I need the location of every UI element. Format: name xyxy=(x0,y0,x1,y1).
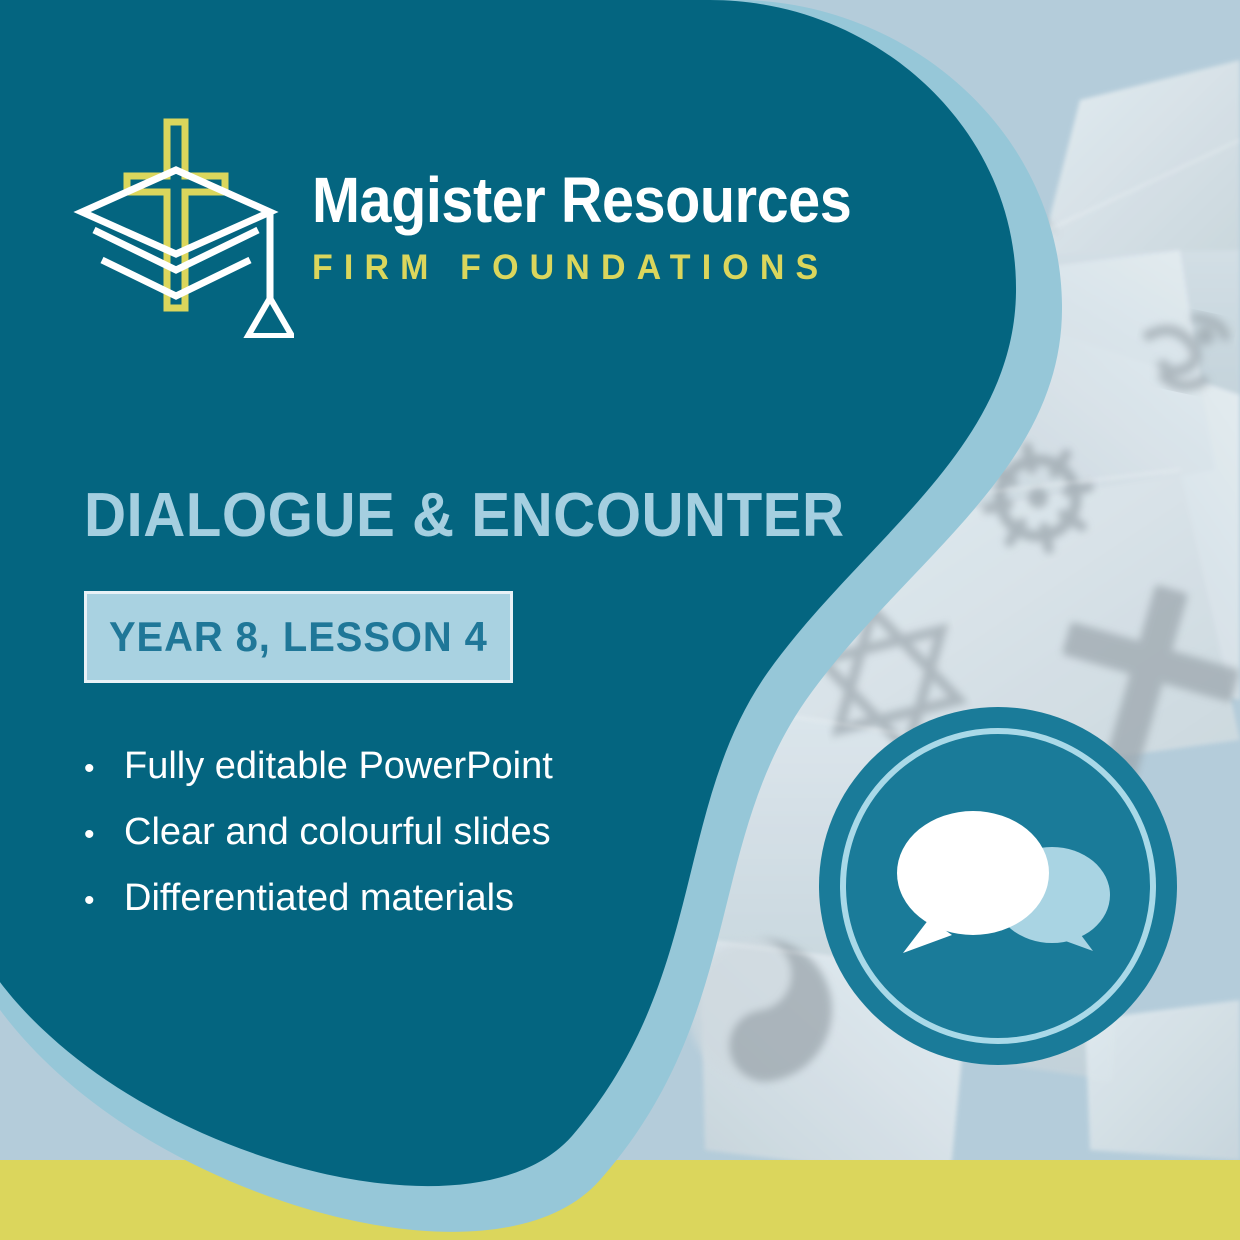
graduation-cap-with-cross-icon xyxy=(72,112,294,338)
bullet-icon: • xyxy=(84,873,124,929)
brand-lockup: Magister Resources FIRM FOUNDATIONS xyxy=(72,112,911,338)
status-badge: YEAR 8, LESSON 4 xyxy=(84,591,513,683)
brand-tagline: FIRM FOUNDATIONS xyxy=(312,248,893,288)
page-title: DIALOGUE & ENCOUNTER xyxy=(84,480,845,551)
badge-label: YEAR 8, LESSON 4 xyxy=(109,613,488,661)
list-item-label: Fully editable PowerPoint xyxy=(124,738,553,794)
list-item: • Fully editable PowerPoint xyxy=(84,738,553,797)
poster-canvas: Magister Resources FIRM FOUNDATIONS DIAL… xyxy=(0,0,1240,1240)
list-item-label: Clear and colourful slides xyxy=(124,804,551,860)
feature-list: • Fully editable PowerPoint • Clear and … xyxy=(84,738,553,936)
brand-name: Magister Resources xyxy=(312,168,851,233)
list-item: • Clear and colourful slides xyxy=(84,804,553,863)
poster-content: Magister Resources FIRM FOUNDATIONS DIAL… xyxy=(0,0,1240,1240)
bullet-icon: • xyxy=(84,741,124,797)
brand-text: Magister Resources FIRM FOUNDATIONS xyxy=(312,162,911,287)
bullet-icon: • xyxy=(84,807,124,863)
list-item-label: Differentiated materials xyxy=(124,870,514,926)
list-item: • Differentiated materials xyxy=(84,870,553,929)
speech-bubbles-icon xyxy=(817,705,1179,1067)
